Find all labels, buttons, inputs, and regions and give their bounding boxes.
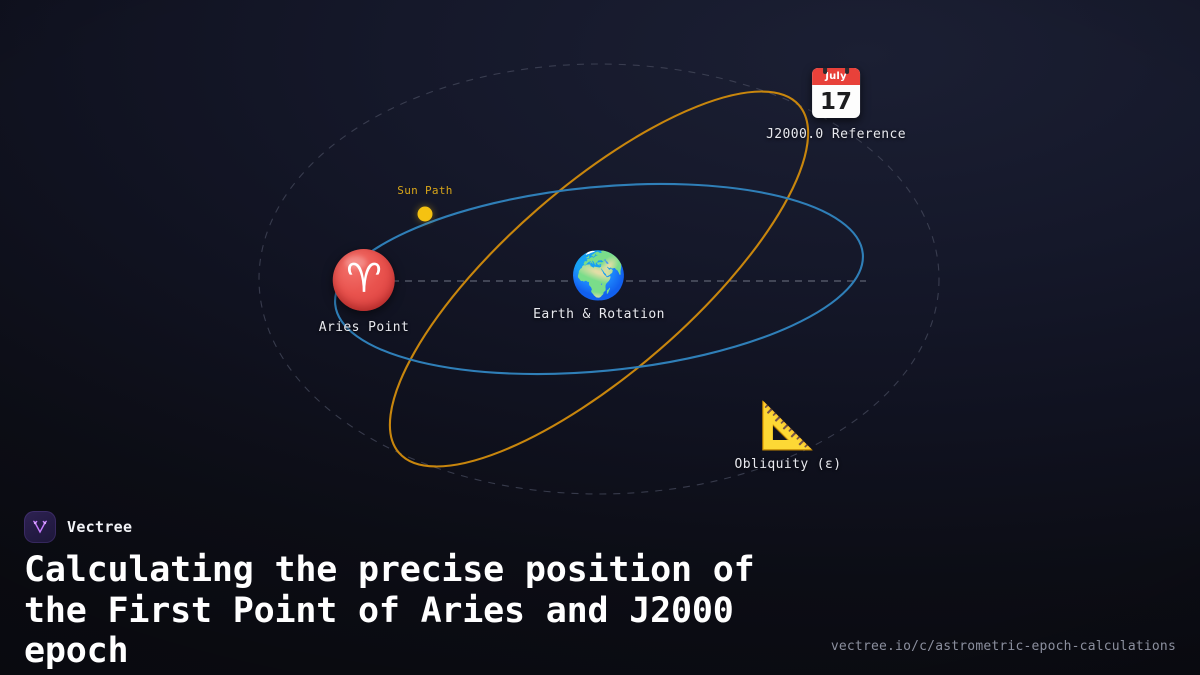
calendar-month: July — [812, 68, 860, 85]
node-label-earth: Earth & Rotation — [533, 307, 665, 322]
node-aries-point[interactable]: ♈ Aries Point — [319, 249, 410, 335]
vectree-v-tree-icon — [24, 511, 56, 543]
node-label-aries-point: Aries Point — [319, 320, 410, 335]
sun-dot-icon — [418, 207, 433, 222]
triangular-ruler-icon: 📐 — [759, 402, 816, 448]
earth-globe-icon: 🌍 — [570, 252, 627, 298]
aries-ram-icon: ♈ — [333, 249, 395, 311]
sun-path-label: Sun Path — [397, 184, 452, 197]
aries-glyph: ♈ — [346, 259, 382, 299]
page-title: Calculating the precise position of the … — [24, 550, 824, 672]
calendar-ring-right — [845, 68, 849, 74]
node-label-j2000-reference: J2000.0 Reference — [766, 127, 906, 142]
calendar-ring-left — [823, 68, 827, 74]
calendar-day: 17 — [812, 85, 860, 118]
footer-url: vectree.io/c/astrometric-epoch-calculati… — [831, 639, 1176, 654]
node-label-obliquity: Obliquity (ε) — [735, 457, 842, 472]
card-footer: Vectree Calculating the precise position… — [0, 500, 1200, 675]
node-j2000-reference[interactable]: July 17 J2000.0 Reference — [766, 68, 906, 142]
brand-lockup[interactable]: Vectree — [24, 511, 132, 543]
calendar-icon: July 17 — [812, 68, 860, 118]
social-card: Sun Path ♈ Aries Point 🌍 Earth & Rotatio… — [0, 0, 1200, 675]
node-obliquity[interactable]: 📐 Obliquity (ε) — [735, 402, 842, 472]
node-earth[interactable]: 🌍 Earth & Rotation — [533, 252, 665, 322]
brand-name: Vectree — [67, 518, 132, 536]
